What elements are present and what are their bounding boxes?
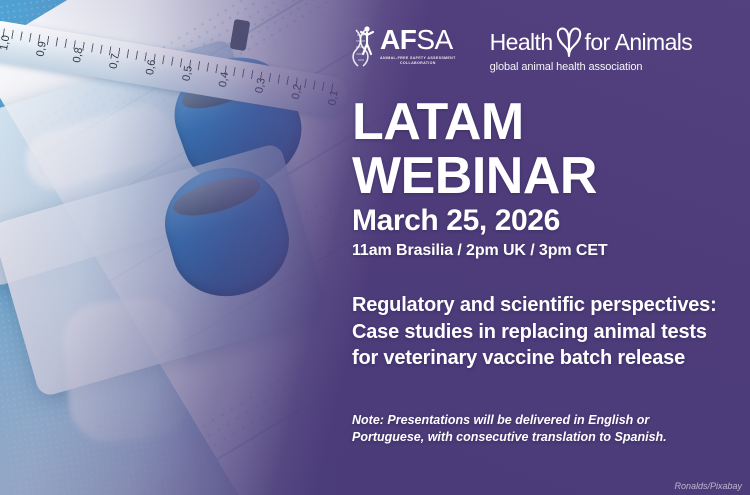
health-for-animals-wordmark: Health for Animals [490,25,693,59]
afsa-dna-human-icon [352,24,378,68]
event-date: March 25, 2026 [352,204,560,238]
page-title: LATAM WEBINAR [352,96,597,203]
butterfly-wings-icon [554,25,584,59]
afsa-logo[interactable]: AFSA ANIMAL-FREE SAFETY ASSESSMENT COLLA… [352,24,456,68]
afsa-word: AFSA [380,26,456,54]
health-for-animals-logo[interactable]: Health for Animals global animal health … [490,24,693,73]
poster-content: AFSA ANIMAL-FREE SAFETY ASSESSMENT COLLA… [0,0,750,495]
hfa-subtitle: global animal health association [490,62,693,73]
hfa-word-animals: Animals [615,31,693,54]
title-line-2: WEBINAR [352,150,597,204]
event-times: 11am Brasilia / 2pm UK / 3pm CET [352,242,608,260]
hfa-word-for: for [585,31,610,54]
afsa-tagline: ANIMAL-FREE SAFETY ASSESSMENT COLLABORAT… [380,56,456,67]
webinar-subject: Regulatory and scientific perspectives: … [352,292,722,372]
language-note: Note: Presentations will be delivered in… [352,412,702,447]
afsa-tagline-line2: COLLABORATION [380,61,456,66]
title-line-1: LATAM [352,96,597,150]
photo-credit: Ronalds/Pixabay [674,481,742,491]
webinar-poster: 1,0 0,9 0,8 0,7 0,6 0,5 0,4 0,3 0,2 0,1 [0,0,750,495]
logo-row: AFSA ANIMAL-FREE SAFETY ASSESSMENT COLLA… [352,24,692,73]
afsa-wordmark: AFSA ANIMAL-FREE SAFETY ASSESSMENT COLLA… [380,24,456,67]
hfa-word-health: Health [490,31,553,54]
